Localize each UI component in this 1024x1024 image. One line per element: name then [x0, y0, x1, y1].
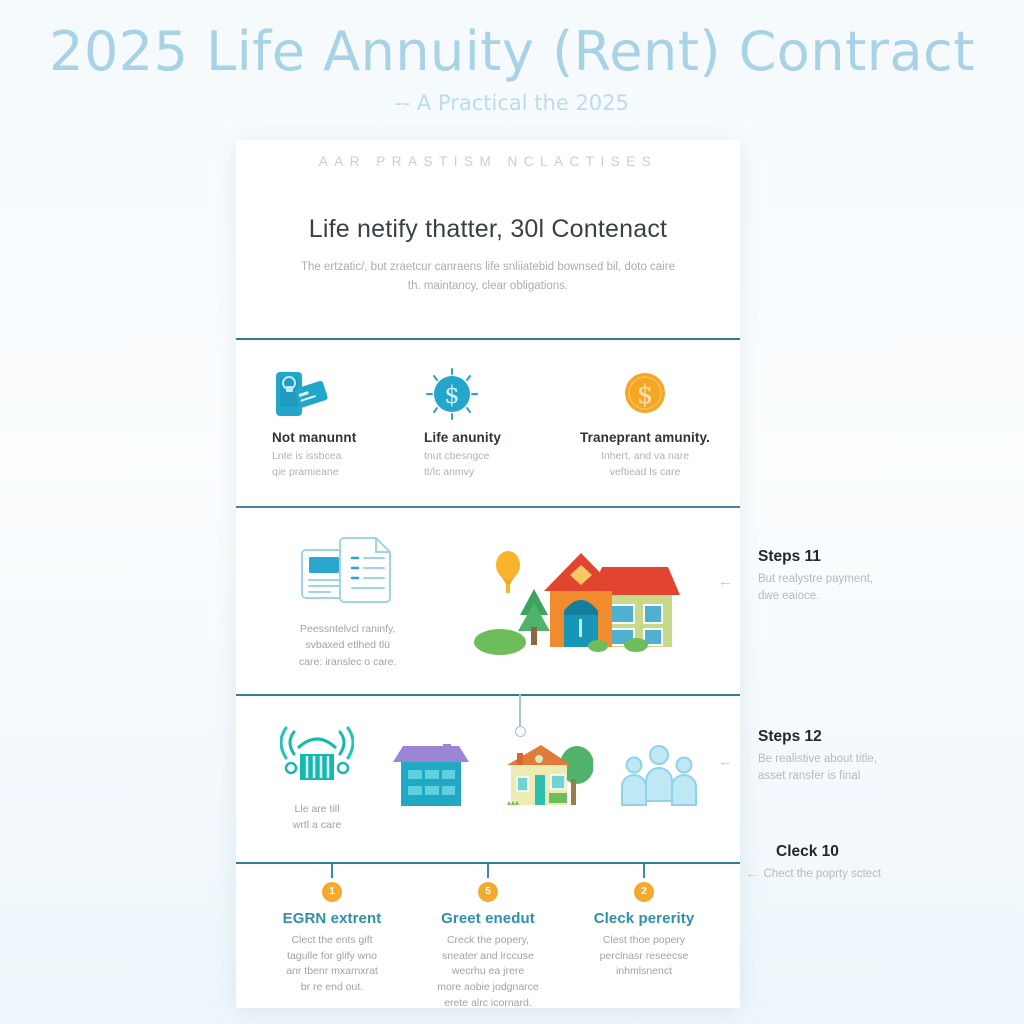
title-block: 2025 Life Annuity (Rent) Contract -- A P…	[0, 24, 1024, 115]
infographic-page: 2025 Life Annuity (Rent) Contract -- A P…	[0, 0, 1024, 1024]
annotation-steps-12: ← Steps 12 Be realistive about title, as…	[758, 728, 1008, 786]
steps-row: 1 EGRN extrent Clect the ents gift tagul…	[236, 864, 740, 1012]
hero-body: The ertzatic/, but zraetcur canraens lif…	[276, 258, 700, 296]
secure-building-icon	[280, 724, 354, 793]
annotation-cleck-10: Cleck 10 ← Chect the poprty sctect	[746, 843, 996, 883]
card-eyebrow: AAR PRASTISM NCLACTISES	[236, 140, 740, 169]
documents-house-row: Peessntelvcl raninfy, svbaxed etlhed tlü…	[236, 508, 740, 694]
dollar-coin-icon: $	[576, 366, 714, 422]
feature-item-2: $ Life anunity tnut cbesngce tt/lc anmvy	[414, 366, 562, 481]
two-houses-illustration	[472, 539, 680, 662]
svg-text:$: $	[637, 380, 654, 410]
documents-cell: Peessntelvcl raninfy, svbaxed etlhed tlü…	[260, 532, 435, 670]
svg-text:▴▴▴: ▴▴▴	[507, 798, 519, 807]
blue-building-cell	[374, 740, 488, 817]
step-desc: Creck the popery, sneater and lrccuse we…	[420, 933, 556, 1012]
phone-card-lock-icon	[272, 366, 410, 422]
annotation-title: Cleck 10	[746, 843, 996, 861]
cottage-with-tree-icon: ▴▴▴	[497, 739, 593, 818]
feature-row: Not manunnt Lnte is issbcea qie pramiean…	[236, 340, 740, 507]
page-title: 2025 Life Annuity (Rent) Contract	[0, 24, 1024, 81]
feature-desc: Inhert, and va nare veftiead ls care	[576, 448, 714, 481]
annotation-desc: But realystre payment, dwe eaioce.	[758, 571, 1008, 606]
people-cell	[602, 743, 716, 814]
step-connector	[331, 864, 333, 878]
hero-heading: Life netify thatter, 30l Contenact	[276, 215, 700, 244]
houses-cell	[435, 539, 716, 662]
row-connector-line	[519, 694, 521, 726]
arrow-left-icon: ←	[718, 576, 752, 588]
blue-apartment-icon	[389, 740, 473, 817]
step-number-badge: 1	[322, 882, 342, 902]
step-title: Cleck pererity	[576, 910, 712, 927]
dollar-coin-burst-icon: $	[424, 366, 562, 422]
step-title: Greet enedut	[420, 910, 556, 927]
step-title: EGRN extrent	[264, 910, 400, 927]
feature-desc: tnut cbesngce tt/lc anmvy	[424, 448, 562, 481]
feature-desc: Lnte is issbcea qie pramieane	[272, 448, 410, 481]
step-number-badge: 2	[634, 882, 654, 902]
annotation-steps-11: ← Steps 11 But realystre payment, dwe ea…	[758, 548, 1008, 606]
annotation-title: Steps 12	[758, 728, 1008, 746]
security-caption: Lle are till wrtl a care	[293, 801, 341, 834]
content-card: AAR PRASTISM NCLACTISES Life netify that…	[236, 140, 740, 1008]
arrow-left-icon: ←	[746, 866, 758, 883]
annotation-desc: Be realistive about title, asset ransfer…	[758, 751, 1008, 786]
annotation-desc: Chect the poprty sctect	[764, 866, 882, 883]
security-cell: Lle are till wrtl a care	[260, 724, 374, 834]
page-subtitle: -- A Practical the 2025	[0, 91, 1024, 115]
row-connector-dot	[515, 726, 526, 737]
arrow-left-icon: ←	[718, 756, 752, 768]
svg-text:$: $	[444, 381, 459, 409]
cottage-cell: ▴▴▴	[488, 739, 602, 818]
documents-caption: Peessntelvcl raninfy, svbaxed etlhed tlü…	[299, 621, 396, 670]
feature-item-3: $ Traneprant amunity. Inhert, and va nar…	[566, 366, 714, 481]
feature-item-1: Not manunnt Lnte is issbcea qie pramiean…	[262, 366, 410, 481]
step-desc: Clest thoe popery perclnasr reseecse inh…	[576, 933, 712, 980]
feature-title: Traneprant amunity.	[576, 430, 714, 445]
hero-section: Life netify thatter, 30l Contenact The e…	[236, 169, 740, 296]
feature-title: Not manunnt	[272, 430, 410, 445]
feature-title: Life anunity	[424, 430, 562, 445]
step-item-3: 2 Cleck pererity Clest thoe popery percl…	[566, 864, 722, 1012]
step-number-badge: 5	[478, 882, 498, 902]
security-buildings-row: Lle are till wrtl a care	[236, 696, 740, 862]
step-desc: Clect the ents gift tagulle for glify wn…	[264, 933, 400, 996]
annotation-title: Steps 11	[758, 548, 1008, 566]
step-connector	[487, 864, 489, 878]
people-group-icon	[616, 743, 702, 814]
step-connector	[643, 864, 645, 878]
two-documents-icon	[296, 532, 400, 613]
step-item-1: 1 EGRN extrent Clect the ents gift tagul…	[254, 864, 410, 1012]
step-item-2: 5 Greet enedut Creck the popery, sneater…	[410, 864, 566, 1012]
